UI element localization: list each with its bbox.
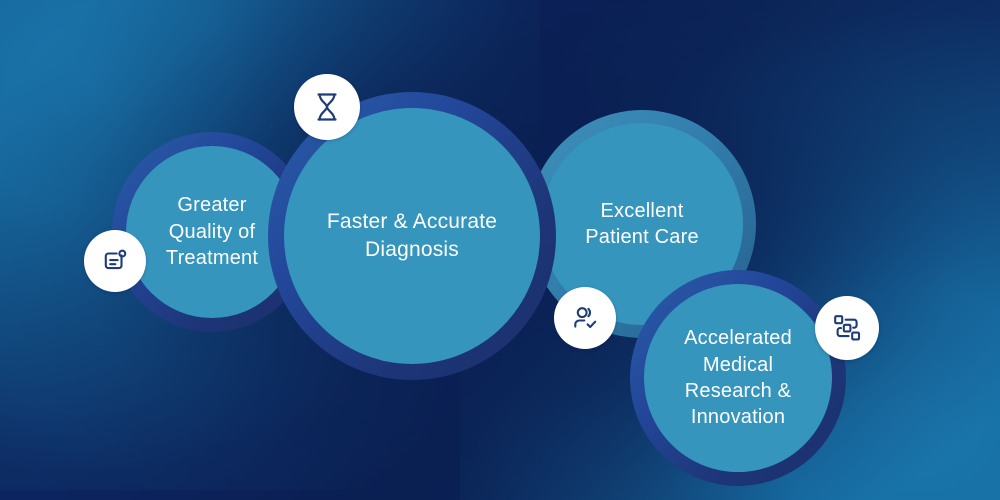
- infographic-canvas: Greater Quality of Treatment Faster & Ac…: [0, 0, 1000, 500]
- bubble-label: Accelerated Medical Research & Innovatio…: [684, 325, 792, 431]
- badge-hourglass[interactable]: [294, 74, 360, 140]
- badge-user-check[interactable]: [554, 287, 616, 349]
- report-card-icon: [99, 245, 131, 277]
- badge-report-card[interactable]: [84, 230, 146, 292]
- badge-network-nodes[interactable]: [815, 296, 879, 360]
- user-check-icon: [569, 302, 601, 334]
- bubble-disc: Faster & Accurate Diagnosis: [284, 108, 540, 364]
- bubble-accelerated-medical-research[interactable]: Accelerated Medical Research & Innovatio…: [630, 270, 846, 486]
- bubble-label: Excellent Patient Care: [585, 198, 699, 251]
- network-nodes-icon: [831, 312, 863, 344]
- bubble-label: Greater Quality of Treatment: [166, 192, 258, 271]
- hourglass-icon: [312, 90, 342, 124]
- bubble-disc: Accelerated Medical Research & Innovatio…: [644, 284, 832, 472]
- bubble-label: Faster & Accurate Diagnosis: [327, 208, 497, 263]
